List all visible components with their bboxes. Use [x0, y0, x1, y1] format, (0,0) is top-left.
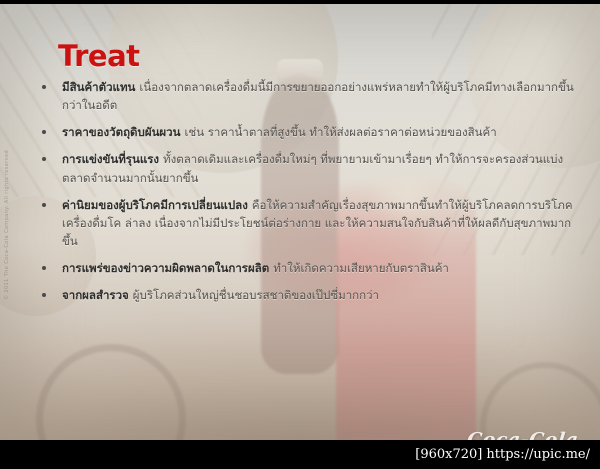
image-source-url[interactable]: https://upic.me/ [486, 447, 590, 462]
bullet-rest: เนื่องจากตลาดเครื่องดื่มนี้มีการขยายออกอ… [62, 80, 574, 112]
bullet-dot-icon [42, 203, 46, 207]
bullet-lead: ราคาของวัตถุดิบผันผวน [62, 125, 185, 139]
footer-bar: [960x720] https://upic.me/ [0, 440, 600, 469]
bullet-dot-icon [42, 85, 46, 89]
page-title: Treat [58, 42, 578, 71]
list-item: ค่านิยมของผู้บริโภคมีการเปลี่ยนแปลง คือใ… [36, 196, 578, 250]
list-item: มีสินค้าตัวแทน เนื่องจากตลาดเครื่องดื่มน… [36, 78, 578, 114]
bullet-lead: การแข่งขันที่รุนแรง [62, 152, 163, 166]
bullet-lead: มีสินค้าตัวแทน [62, 80, 139, 94]
bullet-rest: เช่น ราคาน้ำตาลที่สูงขึ้น ทำให้ส่งผลต่อร… [185, 125, 497, 139]
bullet-lead: การแพร่ของข่าวความผิดพลาดในการผลิต [62, 261, 273, 275]
slide-viewer: Treat มีสินค้าตัวแทน เนื่องจากตลาดเครื่อ… [0, 0, 600, 469]
image-dimensions-label: [960x720] [415, 447, 482, 462]
bullet-dot-icon [42, 266, 46, 270]
list-item: การแข่งขันที่รุนแรง ทั้งตลาดเดิมและเครื่… [36, 150, 578, 186]
bullet-rest: ผู้บริโภคส่วนใหญ่ชื่นชอบรสชาติของเป๊ปซี่… [133, 288, 379, 302]
bullet-dot-icon [42, 130, 46, 134]
bullet-rest: ทำให้เกิดความเสียหายกับตราสินค้า [273, 261, 449, 275]
bullet-lead: ค่านิยมของผู้บริโภคมีการเปลี่ยนแปลง [62, 198, 252, 212]
bullet-dot-icon [42, 293, 46, 297]
list-item: จากผลสำรวจ ผู้บริโภคส่วนใหญ่ชื่นชอบรสชาต… [36, 286, 578, 304]
bullet-list: มีสินค้าตัวแทน เนื่องจากตลาดเครื่องดื่มน… [36, 78, 578, 305]
copyright-watermark: © 2011 The Coca-Cola Company. All rights… [4, 160, 10, 300]
slide-content: Treat มีสินค้าตัวแทน เนื่องจากตลาดเครื่อ… [0, 4, 600, 440]
bullet-dot-icon [42, 157, 46, 161]
list-item: ราคาของวัตถุดิบผันผวน เช่น ราคาน้ำตาลที่… [36, 123, 578, 141]
bullet-lead: จากผลสำรวจ [62, 288, 133, 302]
list-item: การแพร่ของข่าวความผิดพลาดในการผลิต ทำให้… [36, 259, 578, 277]
